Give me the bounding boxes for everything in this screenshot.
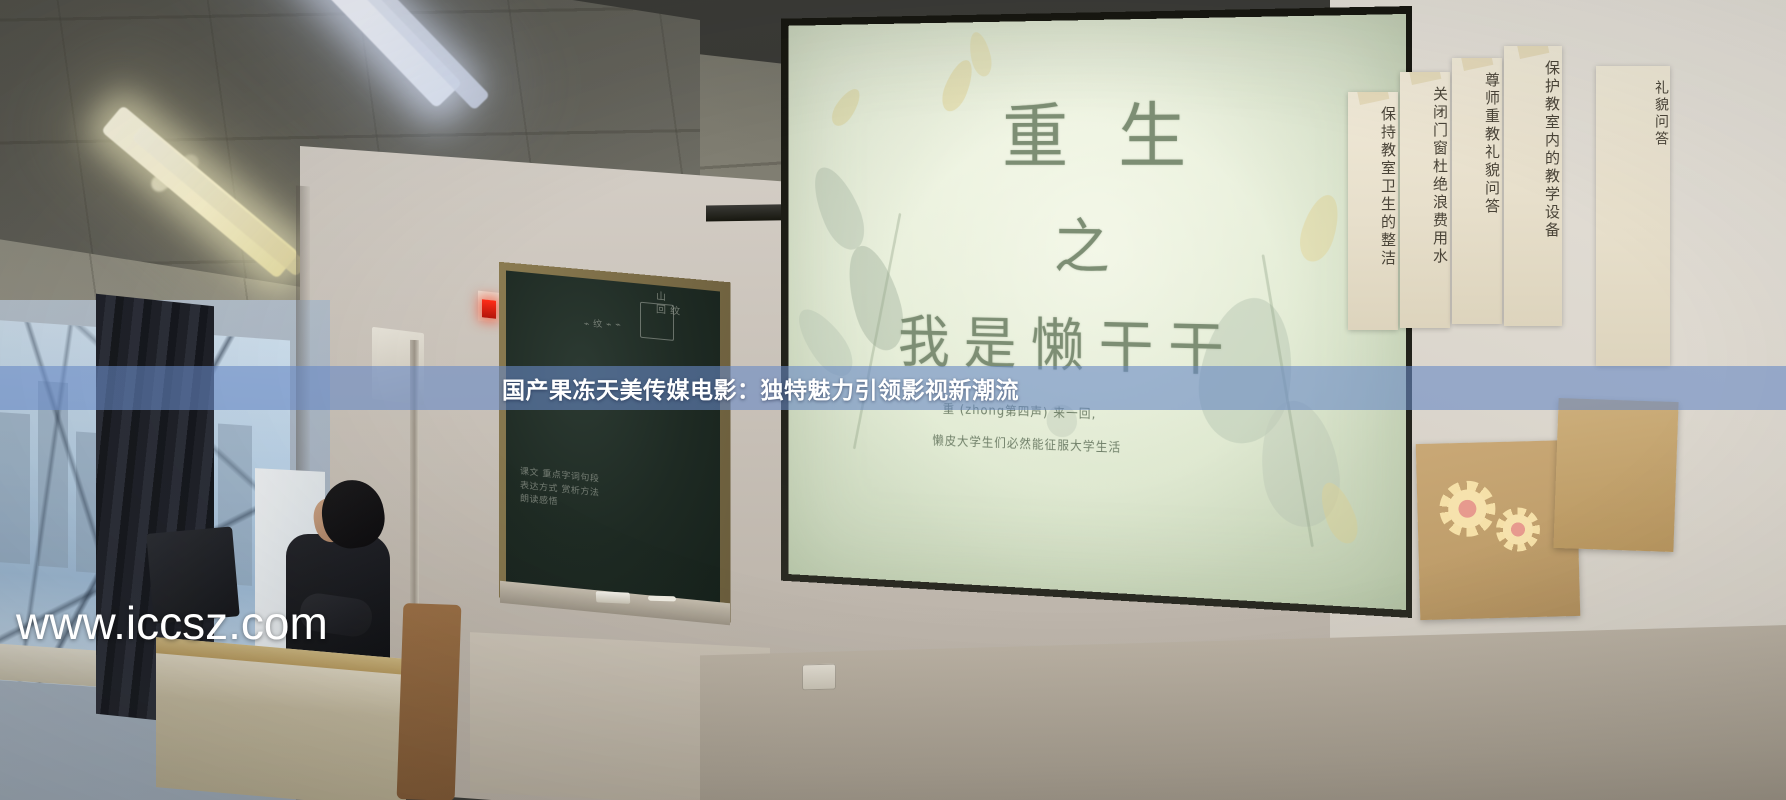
scroll-text-5: 礼貌问答 (1596, 80, 1670, 148)
scroll-text-1: 保持教室卫生的整洁 (1348, 106, 1398, 268)
tape-icon (1409, 72, 1442, 85)
photo-canvas: 山 回 纹 ⌁ 纹 ⌁ ⌁ 课文 重点字词句段 表达方式 赏析方法 朗读感悟 重… (0, 0, 1786, 800)
calligraphy-scroll-3: 尊师重教礼貌问答 (1452, 58, 1502, 324)
leaf-shape (804, 159, 873, 257)
wooden-chair (397, 603, 462, 800)
sunflower-icon (1495, 507, 1540, 552)
chalkboard-notes-left: 课文 重点字词句段 表达方式 赏析方法 朗读感悟 (520, 466, 599, 514)
scroll-text-2: 关闭门窗杜绝浪费用水 (1400, 86, 1450, 266)
scroll-text-4: 保护教室内的教学设备 (1504, 60, 1562, 240)
red-indicator-light-icon (482, 299, 496, 318)
sunflower-icon (1439, 480, 1496, 537)
calligraphy-scroll-4: 保护教室内的教学设备 (1504, 46, 1562, 326)
scroll-text-3: 尊师重教礼貌问答 (1452, 72, 1502, 216)
wall-outlet-icon (802, 664, 836, 691)
tape-icon (1461, 58, 1494, 71)
calligraphy-scroll-1: 保持教室卫生的整洁 (1348, 92, 1398, 330)
leaf-shape-yellow (827, 84, 865, 131)
floor (700, 625, 1786, 800)
tape-icon (1517, 46, 1550, 59)
chalkboard-notes-top: 山 回 纹 (656, 291, 681, 318)
kraft-poster-secondary (1553, 398, 1678, 552)
title-banner: 国产果冻天美传媒电影：独特魅力引领影视新潮流 (0, 366, 1786, 410)
leaf-shape-yellow (1294, 190, 1346, 266)
chalk-stick-icon (648, 596, 676, 602)
calligraphy-scroll-5: 礼貌问答 (1596, 66, 1670, 366)
calligraphy-scroll-2: 关闭门窗杜绝浪费用水 (1400, 72, 1450, 328)
title-banner-text: 国产果冻天美传媒电影：独特魅力引领影视新潮流 (502, 371, 1019, 405)
slide-title-line-2: 之 (1054, 198, 1124, 285)
chalkboard-scribble: ⌁ 纹 ⌁ ⌁ (584, 319, 622, 331)
blackboard: 山 回 纹 ⌁ 纹 ⌁ ⌁ 课文 重点字词句段 表达方式 赏析方法 朗读感悟 (506, 271, 720, 610)
slide-note-line-2: 懒皮大学生们必然能征服大学生活 (932, 430, 1121, 455)
projection-screen: 重 生 之 我是懒干干 重 (zhong第四声) 来一回, 懒皮大学生们必然能征… (788, 14, 1406, 610)
eraser-icon (596, 591, 631, 604)
tape-icon (1357, 92, 1390, 105)
site-watermark: www.iccsz.com (16, 596, 328, 650)
slide-title-line-1: 重 生 (1002, 78, 1201, 182)
